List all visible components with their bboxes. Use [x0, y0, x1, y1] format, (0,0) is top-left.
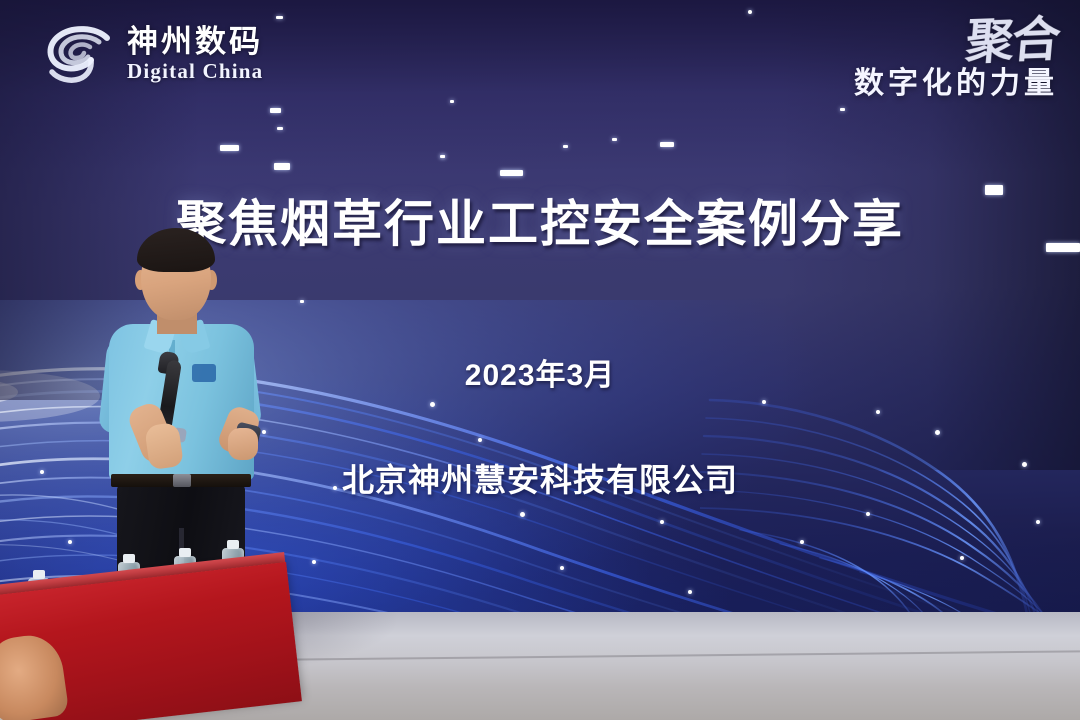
slogan-sub-text: 数字化的力量	[854, 69, 1058, 99]
speaker-belt-buckle	[173, 474, 191, 487]
light-particle	[612, 138, 617, 141]
light-particle	[300, 300, 304, 303]
event-slogan: 聚合 数字化的力量	[854, 18, 1058, 99]
light-particle	[762, 400, 766, 404]
light-particle	[68, 540, 72, 544]
light-particle	[220, 145, 239, 151]
light-particle	[312, 560, 316, 564]
light-particle	[800, 540, 804, 544]
light-particle	[274, 163, 290, 170]
light-particle	[560, 566, 564, 570]
light-particle	[1036, 520, 1040, 524]
light-particle	[276, 16, 283, 19]
brand-logo: 神州数码 Digital China	[44, 22, 263, 86]
light-particle	[500, 170, 523, 176]
speaker-chest-logo	[192, 364, 216, 382]
spiral-galaxy-icon	[44, 22, 118, 86]
stage-photo: 神州数码 Digital China 聚合 数字化的力量 聚焦烟草行业工控安全案…	[0, 0, 1080, 720]
light-particle	[277, 127, 283, 130]
light-particle	[450, 100, 454, 103]
bottle-cap	[227, 540, 239, 549]
light-particle	[441, 155, 445, 158]
light-particle	[660, 142, 674, 147]
slogan-brush-text: 聚合	[964, 16, 1061, 67]
speaker-hair	[137, 228, 215, 272]
logo-name-en: Digital China	[127, 61, 263, 82]
light-particle	[270, 108, 281, 113]
light-particle	[935, 430, 940, 435]
light-particle	[520, 512, 525, 517]
light-particle	[660, 520, 664, 524]
light-particle	[430, 402, 435, 407]
light-particle	[960, 556, 964, 560]
light-particle	[876, 410, 880, 414]
bottle-cap	[33, 570, 45, 579]
light-particle	[563, 145, 568, 148]
light-particle	[840, 108, 845, 111]
bottle-cap	[123, 554, 135, 563]
bottle-cap	[179, 548, 191, 557]
light-particle	[478, 438, 482, 442]
light-particle	[866, 512, 870, 516]
light-particle	[748, 10, 752, 14]
speaker-right-hand	[228, 428, 258, 460]
logo-name-cn: 神州数码	[127, 26, 263, 57]
light-particle	[688, 590, 692, 594]
